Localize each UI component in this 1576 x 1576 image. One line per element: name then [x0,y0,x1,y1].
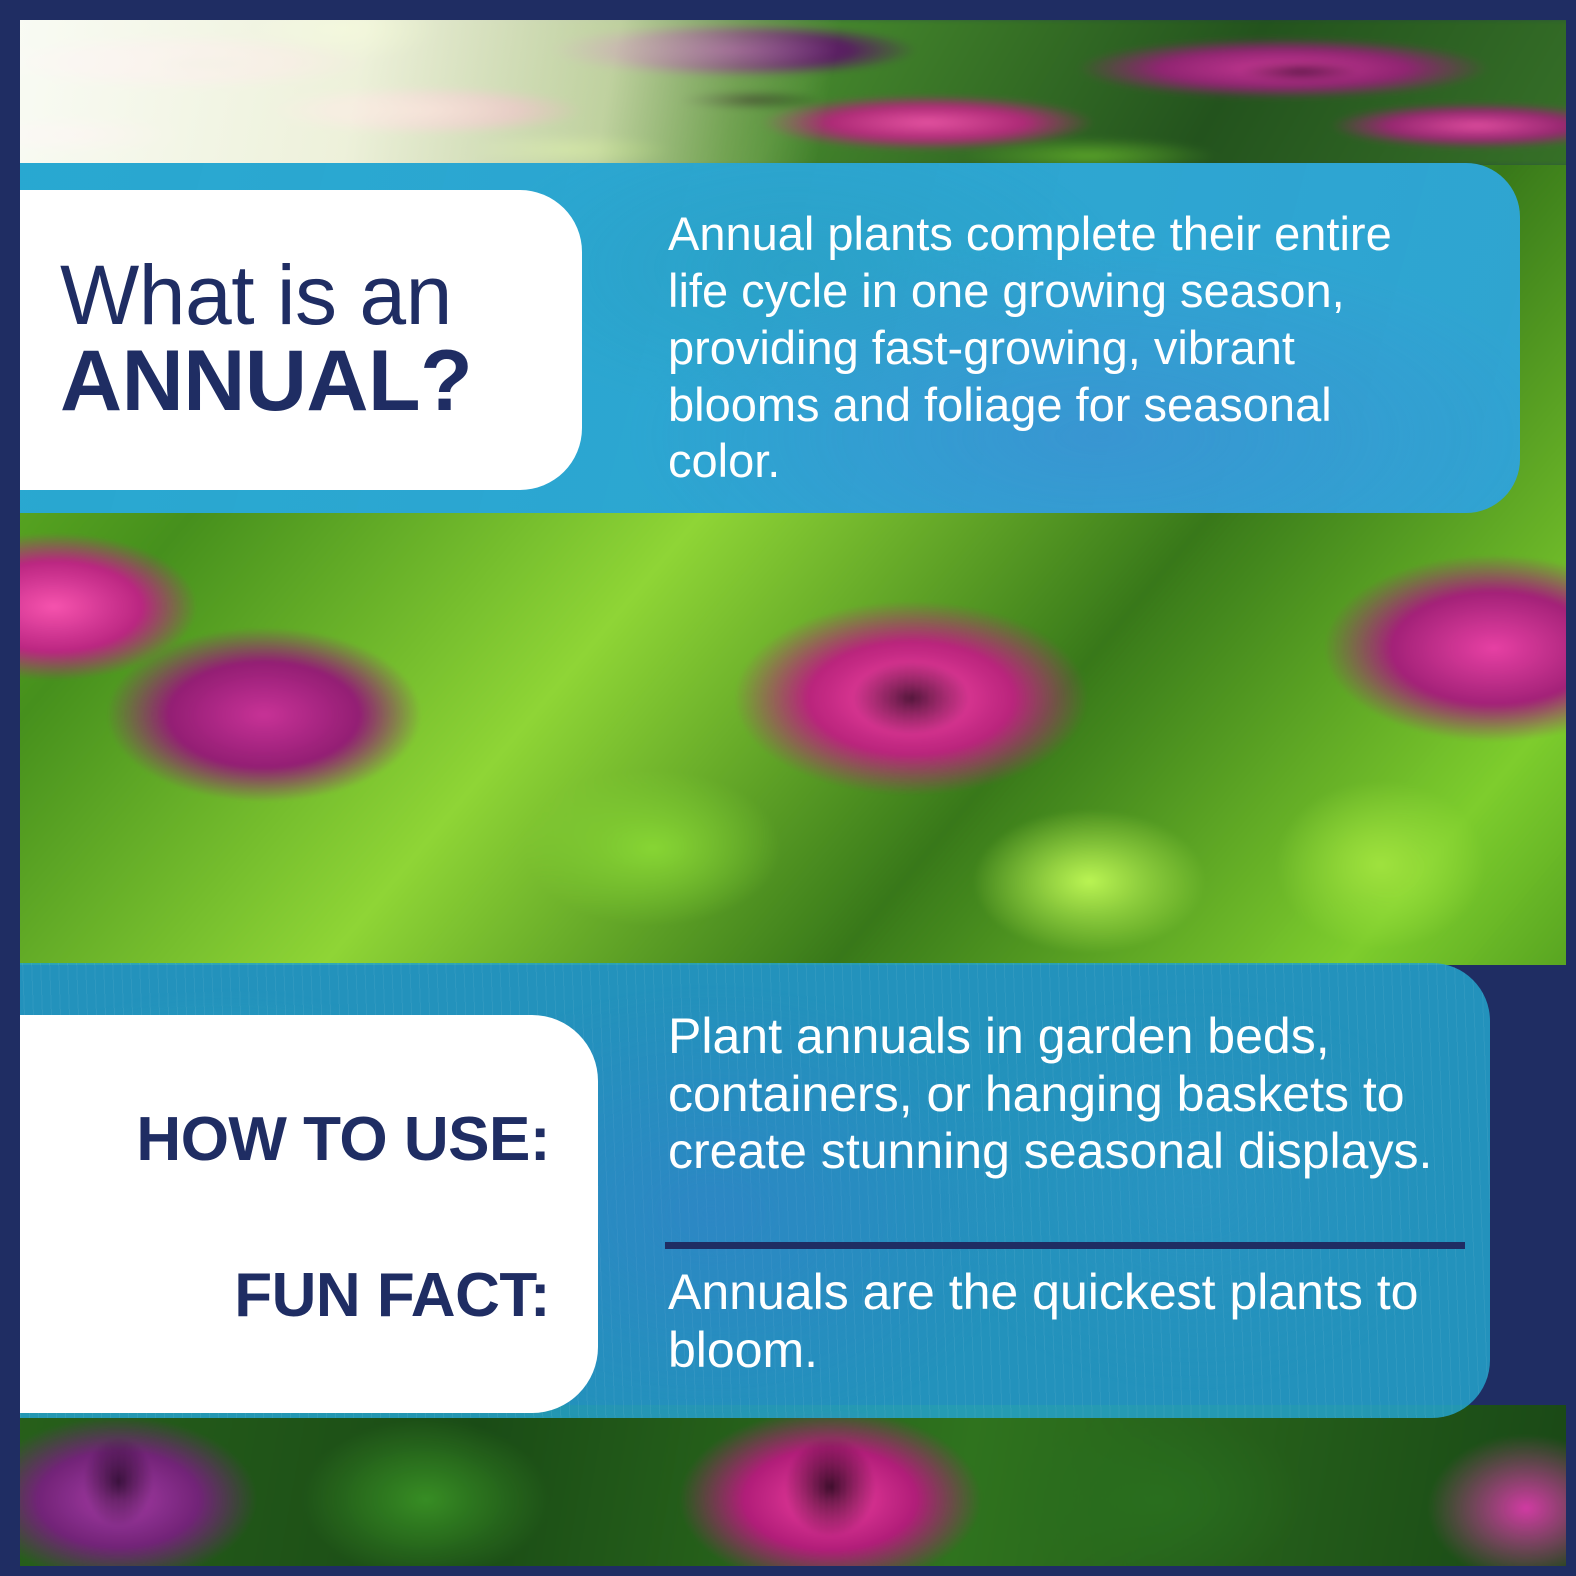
section-labels-card: HOW TO USE: FUN FACT: [20,1015,598,1413]
photo-highlight-wash [20,20,1576,165]
top-photo-strip [20,20,1576,165]
fun-fact-paragraph: Annuals are the quickest plants to bloom… [668,1263,1428,1379]
intro-paragraph: Annual plants complete their entire life… [668,206,1428,490]
how-to-use-label: HOW TO USE: [60,1104,550,1175]
how-to-use-paragraph: Plant annuals in garden beds, containers… [668,1008,1480,1181]
page-title-line-two: ANNUAL? [60,336,540,426]
infographic-inner-frame: What is an ANNUAL? Annual plants complet… [20,20,1576,1576]
bottom-photo-strip [20,1405,1576,1576]
infographic-canvas: What is an ANNUAL? Annual plants complet… [0,0,1576,1576]
fun-fact-label: FUN FACT: [60,1260,550,1331]
page-title-line-one: What is an [60,254,540,336]
section-divider [665,1242,1465,1249]
petunia-photo-bottom-icon [20,1405,1576,1576]
title-card: What is an ANNUAL? [20,190,582,490]
